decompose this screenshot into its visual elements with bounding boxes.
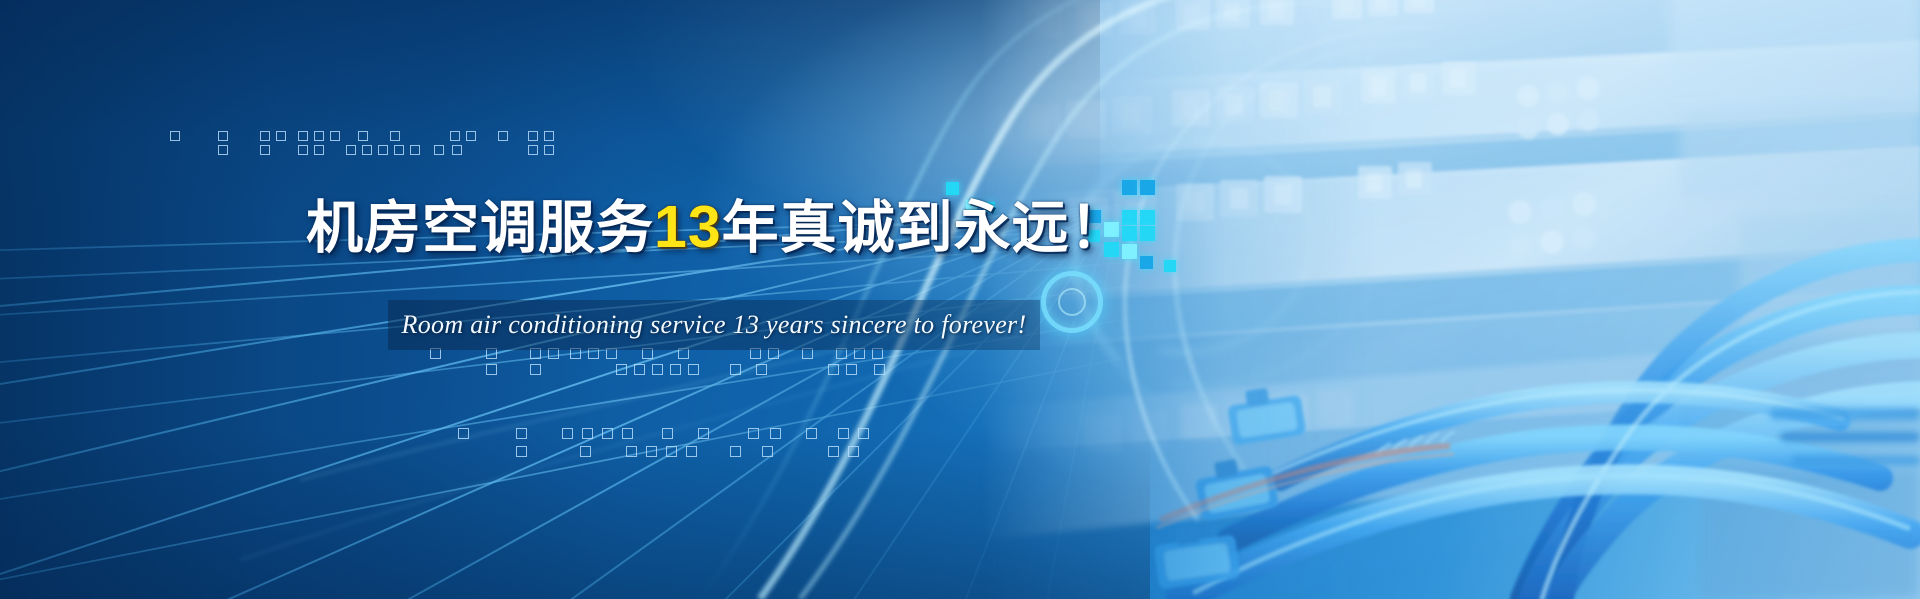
pixel-square-pattern-bottom-2 <box>430 420 910 480</box>
headline-after: 年真诚到永远！ <box>722 196 1128 260</box>
photo-blue-tint <box>980 0 1920 599</box>
pixel-square-pattern-top <box>150 125 590 161</box>
hero-banner: 机房空调服务13年真诚到永远！ Room air conditioning se… <box>0 0 1920 599</box>
glow-ring <box>1041 271 1103 333</box>
subtitle: Room air conditioning service 13 years s… <box>388 300 1040 350</box>
headline-before: 机房空调服务 <box>306 196 654 260</box>
headline-number: 13 <box>654 194 722 260</box>
page-title: 机房空调服务13年真诚到永远！ <box>306 198 1128 257</box>
network-patch-panel-photo <box>980 0 1920 599</box>
